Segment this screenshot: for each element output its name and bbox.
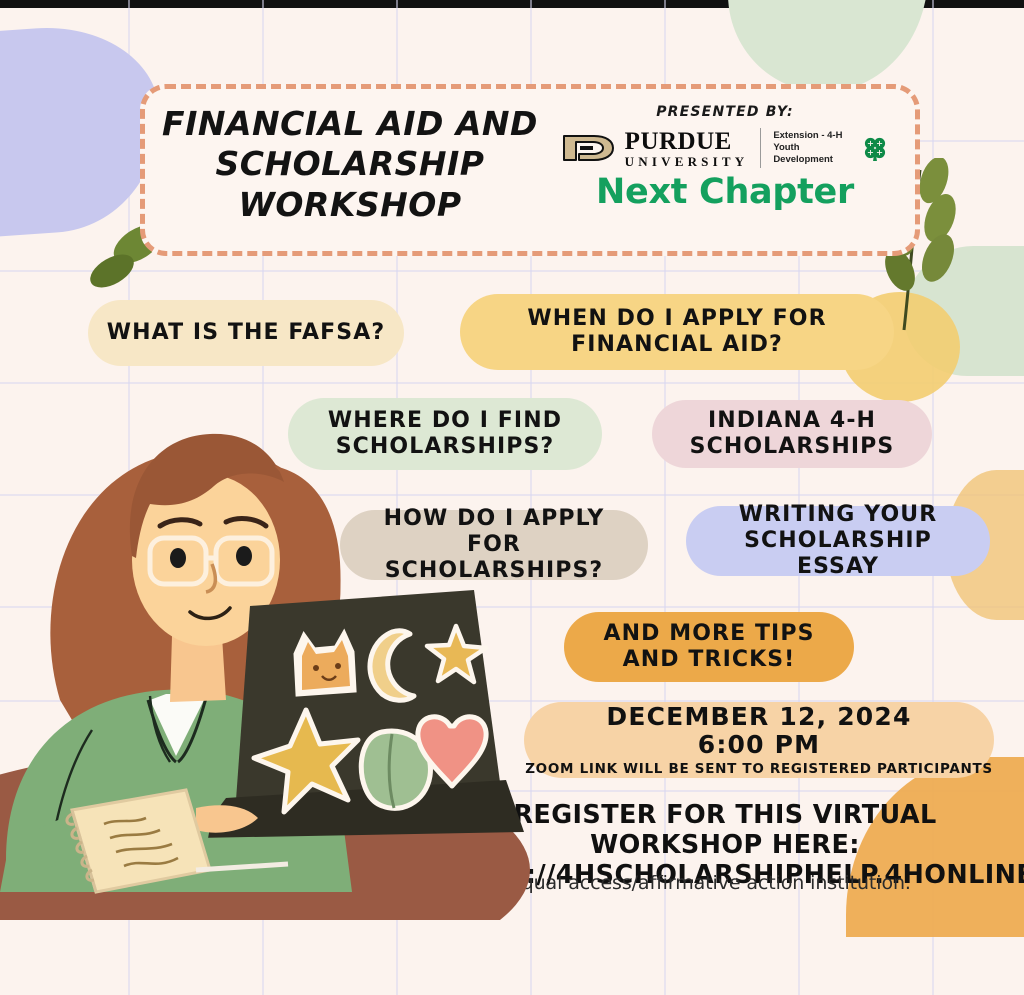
purdue-wordmark: PURDUE UNIVERSITY (625, 129, 749, 168)
event-details-block: DECEMBER 12, 2024 6:00 PM ZOOM LINK WILL… (524, 702, 994, 778)
logo-divider (760, 128, 761, 168)
next-chapter-title: Next Chapter (545, 172, 905, 212)
extension-block: Extension - 4-H Youth Development (773, 130, 888, 166)
event-time: 6:00 PM (698, 731, 821, 759)
purdue-wordmark-secondary: UNIVERSITY (625, 155, 749, 168)
eye-right (236, 546, 252, 566)
student-at-laptop-illustration (0, 400, 540, 920)
topic-pill-indiana: INDIANA 4-H SCHOLARSHIPS (652, 400, 932, 468)
title-line-2: SCHOLARSHIP (160, 144, 540, 184)
purdue-p-icon (562, 131, 616, 165)
four-leaf-clover-icon (862, 135, 888, 161)
title-line-3: WORKSHOP (160, 185, 540, 225)
poster-canvas: FINANCIAL AID AND SCHOLARSHIP WORKSHOP P… (0, 0, 1024, 995)
purdue-logo: PURDUE UNIVERSITY Extension - 4-H Youth … (545, 128, 905, 168)
purdue-wordmark-primary: PURDUE (625, 129, 749, 154)
event-note: ZOOM LINK WILL BE SENT TO REGISTERED PAR… (525, 761, 993, 777)
page-title: FINANCIAL AID AND SCHOLARSHIP WORKSHOP (160, 104, 540, 225)
eye-left (170, 548, 186, 568)
presented-by-label: PRESENTED BY: (545, 104, 905, 120)
event-date: DECEMBER 12, 2024 (606, 703, 911, 731)
topic-pill-essay: WRITING YOUR SCHOLARSHIP ESSAY (686, 506, 990, 576)
title-line-1: FINANCIAL AID AND (160, 104, 540, 144)
topic-pill-when: WHEN DO I APPLY FOR FINANCIAL AID? (460, 294, 894, 370)
neck (170, 636, 226, 702)
presenter-block: PRESENTED BY: PURDUE UNIVERSITY Extensio… (545, 104, 905, 212)
extension-label: Extension - 4-H Youth Development (773, 130, 857, 166)
green-blob-top (728, 0, 928, 92)
topic-pill-fafsa: WHAT IS THE FAFSA? (88, 300, 404, 366)
topic-pill-more: AND MORE TIPS AND TRICKS! (564, 612, 854, 682)
